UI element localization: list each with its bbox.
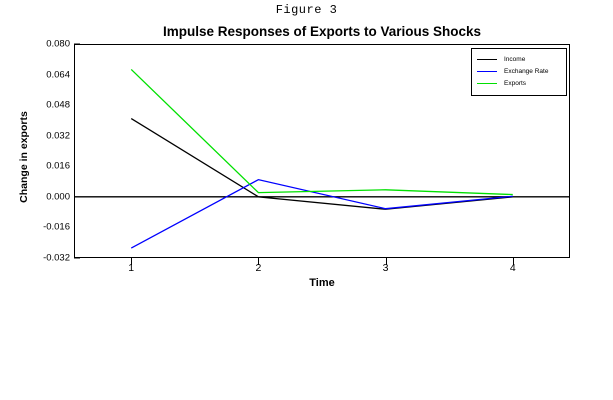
x-axis-tick-label: 2 bbox=[243, 262, 273, 274]
legend-swatch-exchange-rate bbox=[477, 71, 497, 72]
legend-swatch-exports bbox=[477, 83, 497, 84]
legend-item[interactable]: Exports bbox=[472, 78, 566, 89]
y-axis-tick-label: 0.080 bbox=[24, 39, 70, 50]
series-line-income bbox=[131, 119, 513, 210]
impulse-response-chart: Impulse Responses of Exports to Various … bbox=[0, 0, 613, 400]
legend-label: Exchange Rate bbox=[504, 68, 548, 75]
x-axis-tick-label: 1 bbox=[116, 262, 146, 274]
legend-label: Exports bbox=[504, 80, 526, 87]
y-axis-tick-label: -0.016 bbox=[24, 222, 70, 233]
y-axis-tick-label: 0.016 bbox=[24, 161, 70, 172]
y-axis-tick-labels: 0.0800.0640.0480.0320.0160.000-0.016-0.0… bbox=[16, 44, 70, 258]
x-axis-tick-label: 3 bbox=[371, 262, 401, 274]
chart-title: Impulse Responses of Exports to Various … bbox=[74, 24, 570, 39]
x-axis-tick-label: 4 bbox=[498, 262, 528, 274]
y-axis-tick-label: 0.032 bbox=[24, 130, 70, 141]
series-line-exports bbox=[131, 69, 513, 194]
legend-swatch-income bbox=[477, 59, 497, 60]
y-axis-tick-label: -0.032 bbox=[24, 253, 70, 264]
legend-item[interactable]: Exchange Rate bbox=[472, 66, 566, 77]
legend-item[interactable]: Income bbox=[472, 54, 566, 65]
y-axis-tick-label: 0.064 bbox=[24, 69, 70, 80]
legend-label: Income bbox=[504, 56, 525, 63]
chart-legend: IncomeExchange RateExports bbox=[471, 48, 567, 96]
y-axis-tick-label: 0.048 bbox=[24, 100, 70, 111]
y-axis-tick-label: 0.000 bbox=[24, 191, 70, 202]
x-axis-title: Time bbox=[74, 277, 570, 289]
series-line-exchange-rate bbox=[131, 180, 513, 248]
